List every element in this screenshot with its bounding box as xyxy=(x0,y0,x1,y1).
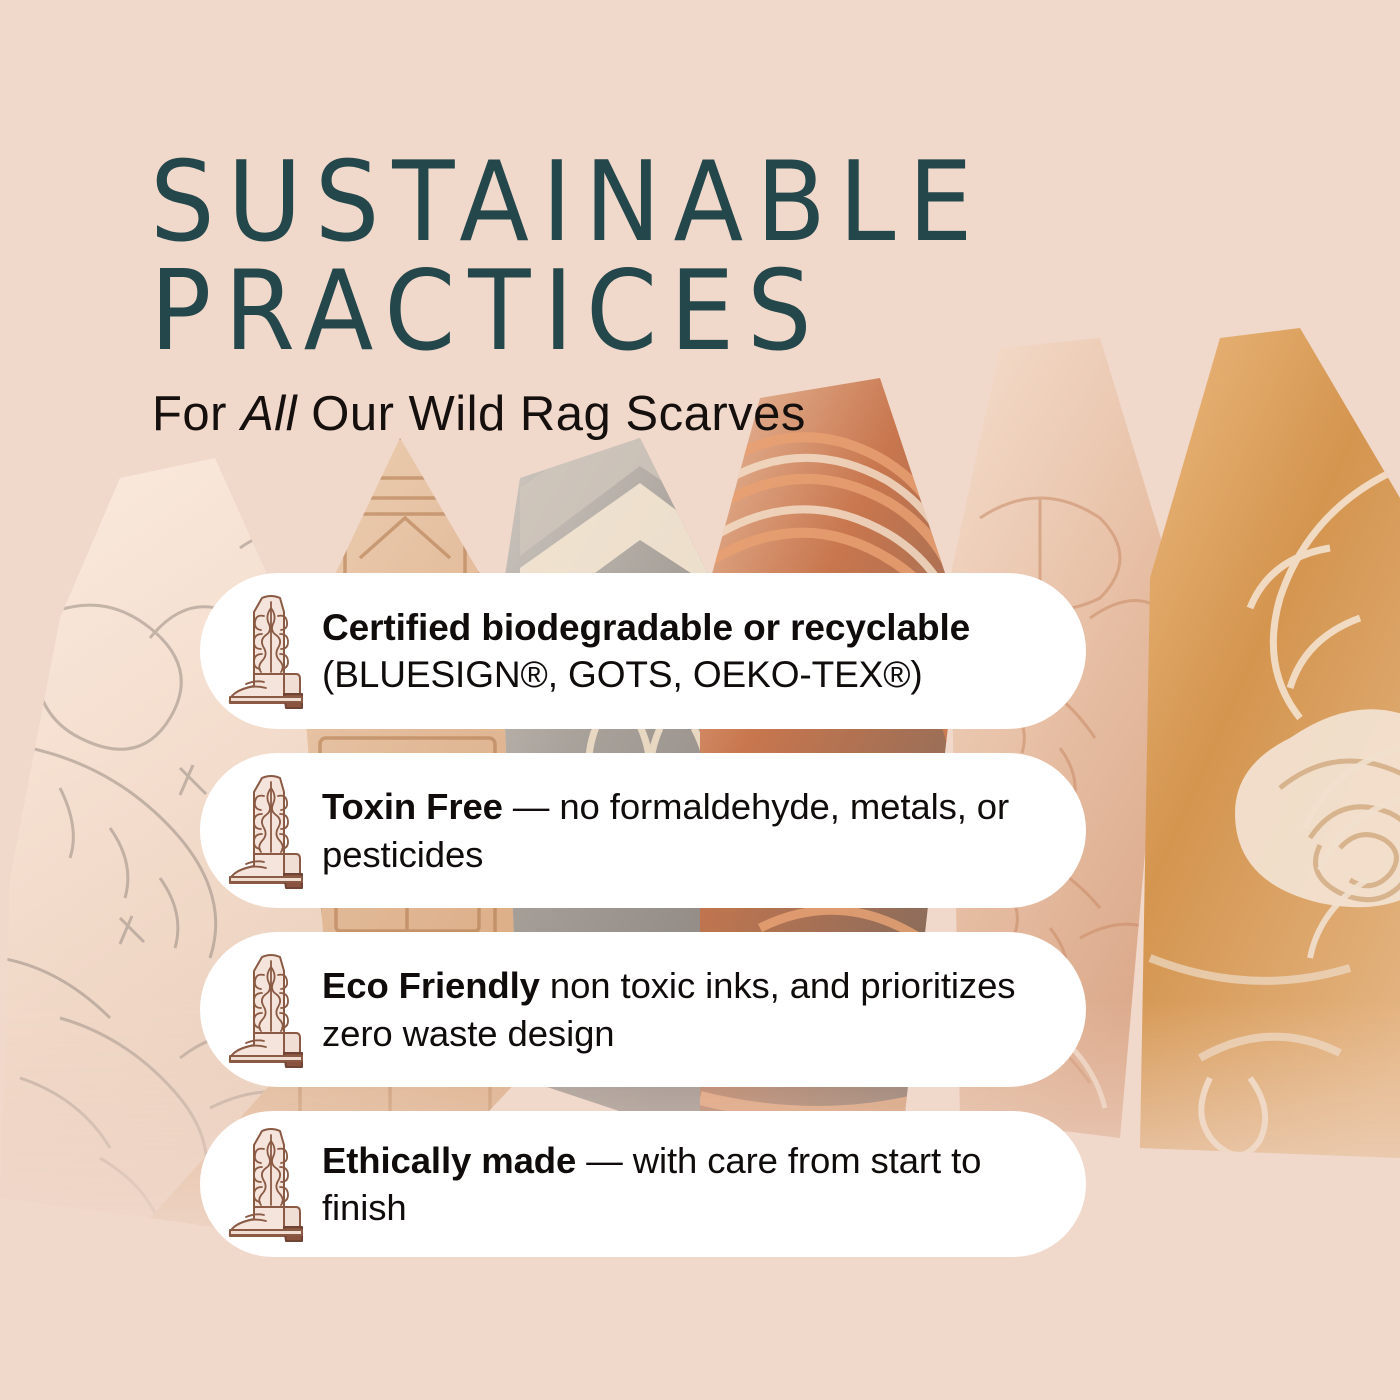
practice-card-ethically-made: Ethically made — with care from start to… xyxy=(200,1111,1086,1257)
cowboy-boot-icon xyxy=(226,1125,312,1243)
cowboy-boot-glyph xyxy=(226,592,312,710)
sustainable-practices-graphic: SUSTAINABLE PRACTICES For All Our Wild R… xyxy=(0,0,1400,1400)
practice-card-secondary: (BLUESIGN®, GOTS, OEKO-TEX®) xyxy=(322,651,970,698)
practice-card-bold: Eco Friendly xyxy=(322,965,540,1006)
practice-card-text: Toxin Free — no formaldehyde, metals, or… xyxy=(322,783,1046,878)
subtitle-emphasis: All xyxy=(241,387,297,441)
practice-card-text: Eco Friendly non toxic inks, and priorit… xyxy=(322,962,1046,1057)
subtitle-before: For xyxy=(152,387,241,441)
cowboy-boot-icon xyxy=(226,951,312,1069)
practice-card-text: Certified biodegradable or recyclable (B… xyxy=(322,604,970,699)
page-title-line-2: PRACTICES xyxy=(150,257,1228,366)
page-subtitle: For All Our Wild Rag Scarves xyxy=(152,386,1250,442)
subtitle-after: Our Wild Rag Scarves xyxy=(297,387,806,441)
cowboy-boot-glyph xyxy=(226,1125,312,1243)
practice-card-bold: Certified biodegradable or recyclable xyxy=(322,607,970,648)
cowboy-boot-glyph xyxy=(226,772,312,890)
cowboy-boot-glyph xyxy=(226,951,312,1069)
page-title-line-1: SUSTAINABLE xyxy=(150,148,1228,257)
practices-card-list: Certified biodegradable or recyclable (B… xyxy=(200,573,1086,1281)
practice-card-certified: Certified biodegradable or recyclable (B… xyxy=(200,573,1086,729)
practice-card-toxin-free: Toxin Free — no formaldehyde, metals, or… xyxy=(200,753,1086,908)
practice-card-text: Ethically made — with care from start to… xyxy=(322,1137,1046,1232)
cowboy-boot-icon xyxy=(226,772,312,890)
headline-block: SUSTAINABLE PRACTICES For All Our Wild R… xyxy=(150,148,1250,442)
practice-card-bold: Toxin Free xyxy=(322,786,503,827)
cowboy-boot-icon xyxy=(226,592,312,710)
scarf-gold-rose xyxy=(1140,328,1400,1158)
practice-card-eco-friendly: Eco Friendly non toxic inks, and priorit… xyxy=(200,932,1086,1087)
practice-card-bold: Ethically made xyxy=(322,1140,576,1181)
